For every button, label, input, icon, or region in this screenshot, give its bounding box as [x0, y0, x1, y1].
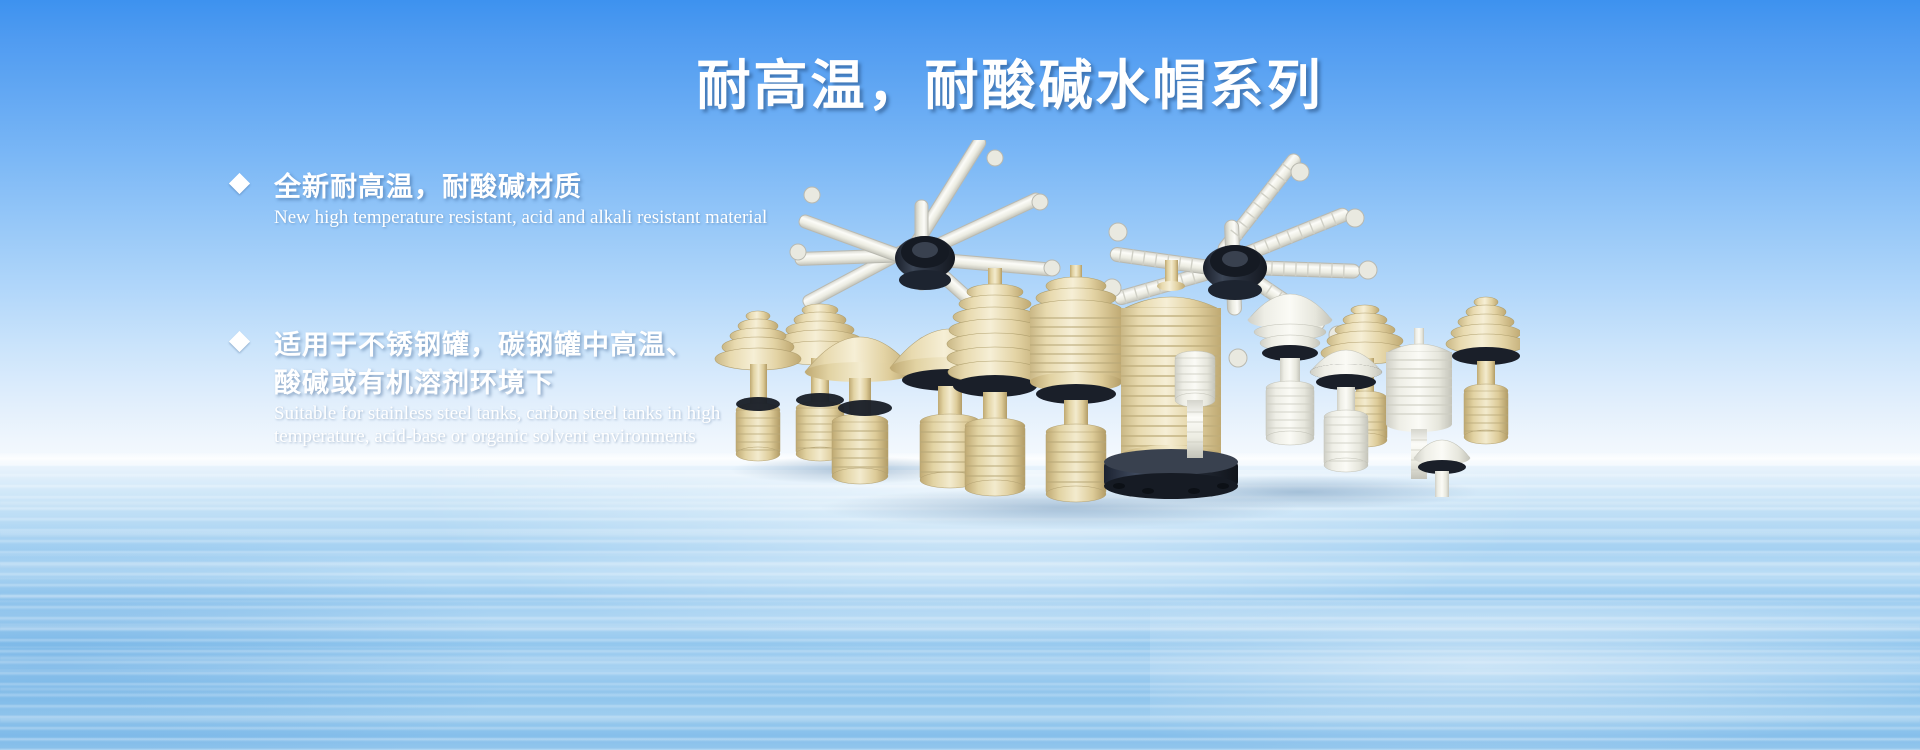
feature-bullet-2-cn: 适用于不锈钢罐，碳钢罐中高温、 酸碱或有机溶剂环境下 — [274, 326, 992, 403]
feature-bullet-1-cn-line-1: 全新耐高温，耐酸碱材质 — [274, 168, 992, 206]
feature-bullet-1-body: 全新耐高温，耐酸碱材质 New high temperature resista… — [274, 168, 992, 230]
feature-bullet-2-en: Suitable for stainless steel tanks, carb… — [274, 403, 992, 448]
feature-bullet-2-en-line-1: Suitable for stainless steel tanks, carb… — [274, 403, 992, 425]
water-highlight-secondary — [1150, 600, 1920, 750]
page-title: 耐高温，耐酸碱水帽系列 — [697, 58, 1324, 115]
diamond-bullet-icon — [229, 173, 250, 194]
feature-bullet-2-cn-line-1: 适用于不锈钢罐，碳钢罐中高温、 — [274, 326, 992, 364]
promo-banner: 耐高温，耐酸碱水帽系列 全新耐高温，耐酸碱材质 New high tempera… — [0, 0, 1920, 750]
feature-bullet-2-en-line-2: temperature, acid-base or organic solven… — [274, 426, 992, 448]
feature-bullet-1-en: New high temperature resistant, acid and… — [274, 207, 992, 229]
feature-bullet-2-cn-line-2: 酸碱或有机溶剂环境下 — [274, 364, 992, 402]
diamond-bullet-icon — [229, 331, 250, 352]
product-cap-cream-right-front — [1446, 297, 1520, 444]
feature-bullet-2-body: 适用于不锈钢罐，碳钢罐中高温、 酸碱或有机溶剂环境下 Suitable for … — [274, 326, 992, 448]
feature-bullet-1: 全新耐高温，耐酸碱材质 New high temperature resista… — [232, 168, 992, 230]
feature-bullet-1-en-line-1: New high temperature resistant, acid and… — [274, 207, 992, 229]
feature-bullet-1-cn: 全新耐高温，耐酸碱材质 — [274, 168, 992, 206]
feature-bullet-list: 全新耐高温，耐酸碱材质 New high temperature resista… — [232, 168, 992, 448]
feature-bullet-2: 适用于不锈钢罐，碳钢罐中高温、 酸碱或有机溶剂环境下 Suitable for … — [232, 326, 992, 448]
